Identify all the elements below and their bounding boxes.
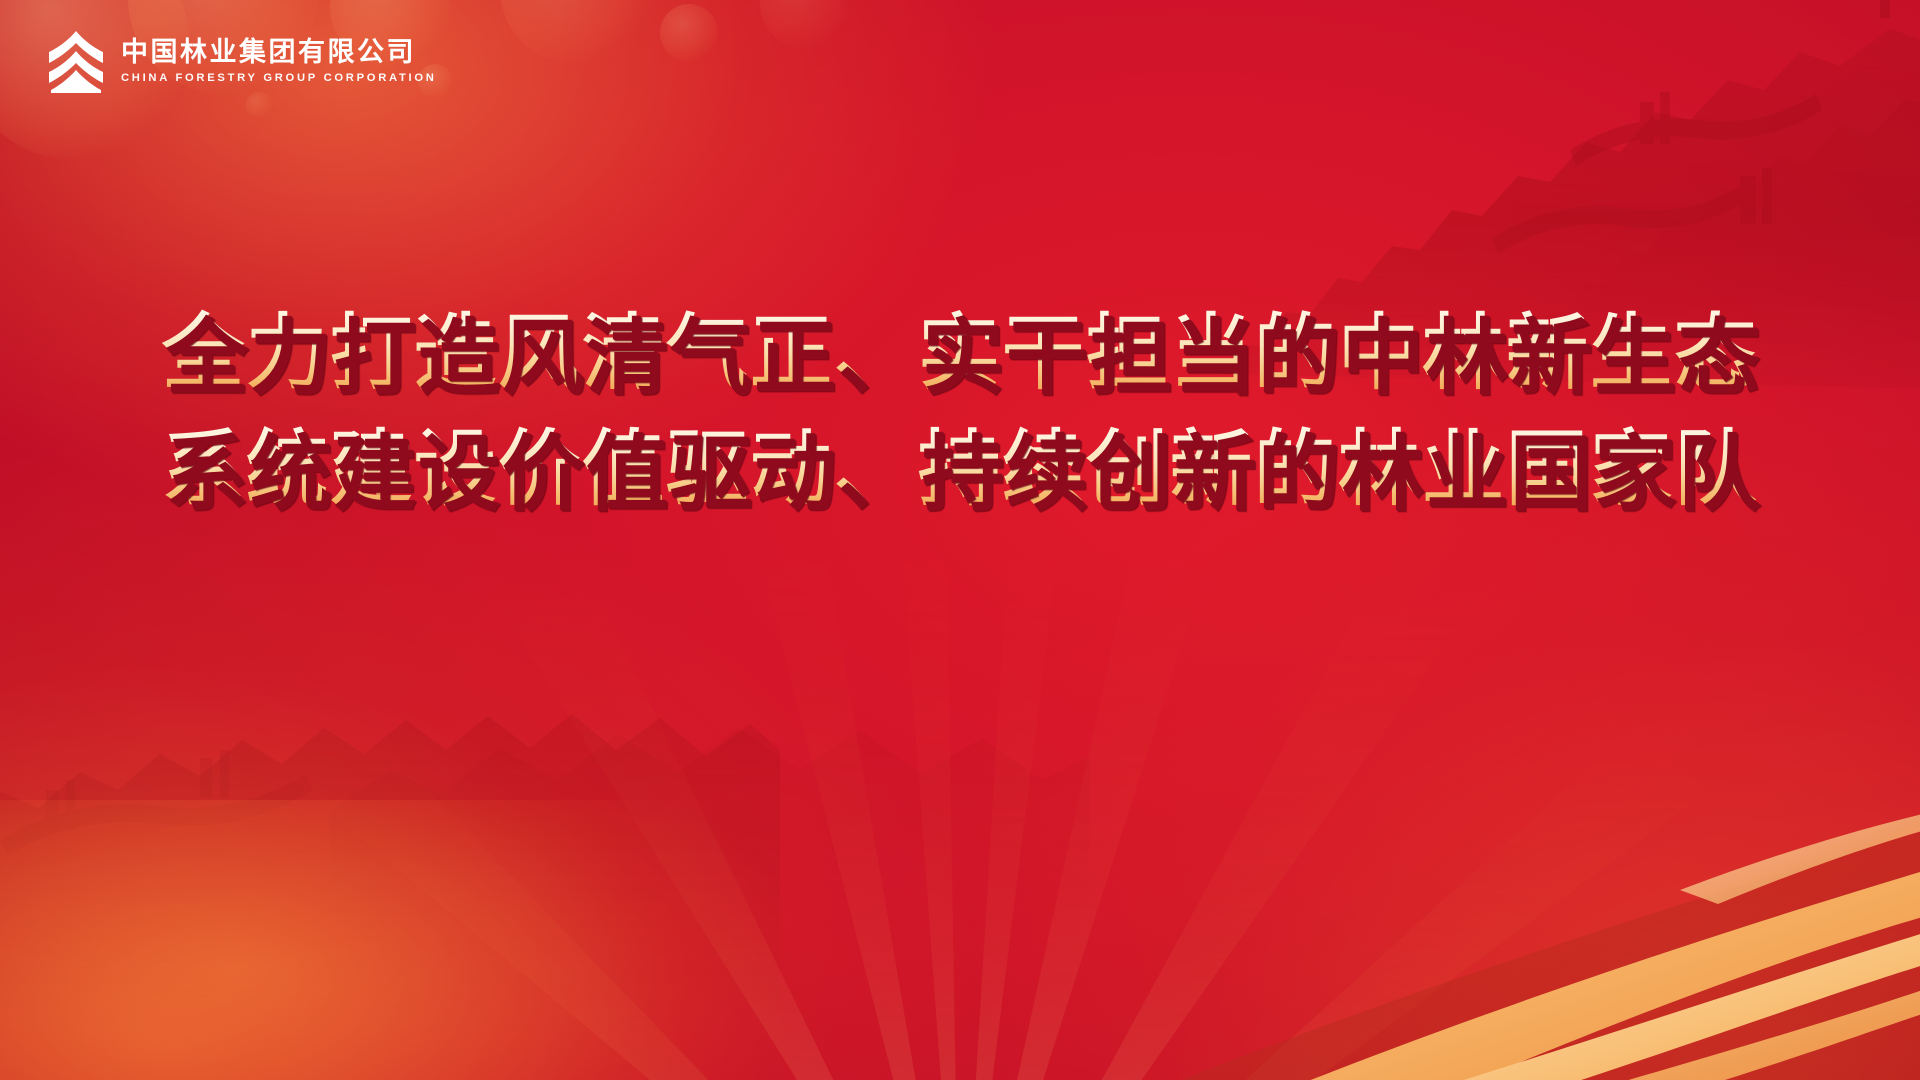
- light-rays-decoration: [110, 520, 1810, 1080]
- headline-line1-wrap: 全力打造风清气正、实干担当的中林新生态 全力打造风清气正、实干担当的中林新生态: [40, 296, 1880, 412]
- chevron-stack-logo-icon: [45, 27, 107, 93]
- company-name-cn: 中国林业集团有限公司: [121, 37, 437, 67]
- bokeh-circle: [500, 0, 650, 64]
- headline-line1: 全力打造风清气正、实干担当的中林新生态: [40, 296, 1880, 412]
- bottom-left-glow: [0, 800, 780, 1080]
- banner-canvas: 中国林业集团有限公司 CHINA FORESTRY GROUP CORPORAT…: [0, 0, 1920, 1080]
- bokeh-circle: [760, 0, 848, 48]
- logo-lockup[interactable]: 中国林业集团有限公司 CHINA FORESTRY GROUP CORPORAT…: [45, 27, 437, 93]
- mountain-ink-texture-bottom-left: [0, 680, 780, 1040]
- logo-text-block: 中国林业集团有限公司 CHINA FORESTRY GROUP CORPORAT…: [121, 35, 437, 85]
- company-name-en: CHINA FORESTRY GROUP CORPORATION: [121, 72, 437, 84]
- headline-line2: 系统建设价值驱动、持续创新的林业国家队: [40, 412, 1880, 528]
- headline-block: 全力打造风清气正、实干担当的中林新生态 全力打造风清气正、实干担当的中林新生态 …: [0, 296, 1920, 528]
- bokeh-circle: [246, 92, 272, 118]
- mountain-ink-texture-bottom-center: [330, 630, 1090, 930]
- bokeh-circle: [660, 4, 718, 62]
- gold-ribbon-swoosh: [960, 770, 1920, 1080]
- headline-line2-wrap: 系统建设价值驱动、持续创新的林业国家队 系统建设价值驱动、持续创新的林业国家队: [40, 412, 1880, 528]
